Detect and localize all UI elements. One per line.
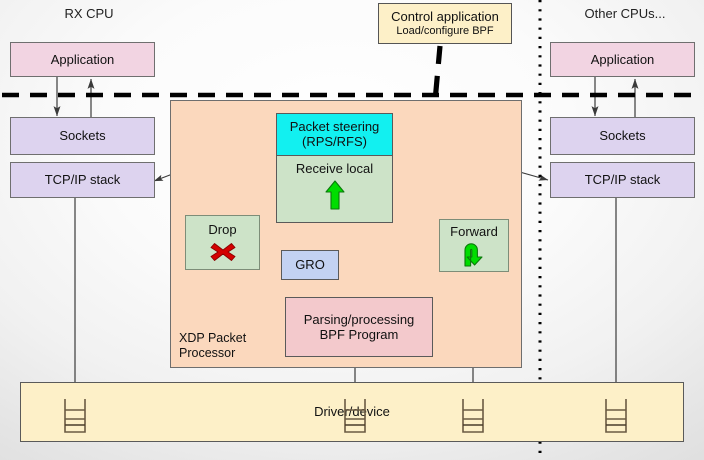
control-application-box[interactable]: Control application Load/configure BPF — [378, 3, 512, 44]
queue-icon — [460, 398, 486, 434]
red-x-icon — [209, 241, 237, 263]
left-application-box[interactable]: Application — [10, 42, 155, 77]
right-sockets-label: Sockets — [599, 128, 645, 143]
xdp-processor-label-line1: XDP Packet — [179, 331, 246, 345]
steering-receive-group: Packet steering (RPS/RFS) Receive local — [276, 113, 393, 223]
left-tcpip-label: TCP/IP stack — [45, 172, 121, 187]
bpf-program-line1: Parsing/processing — [304, 312, 415, 327]
drop-label: Drop — [208, 222, 236, 237]
queue-icon — [603, 398, 629, 434]
right-application-box[interactable]: Application — [550, 42, 695, 77]
forward-box[interactable]: Forward — [439, 219, 509, 272]
gro-box[interactable]: GRO — [281, 250, 339, 280]
left-application-label: Application — [51, 52, 115, 67]
control-application-subtitle: Load/configure BPF — [396, 25, 493, 38]
gro-label: GRO — [295, 257, 325, 272]
right-sockets-box[interactable]: Sockets — [550, 117, 695, 155]
bpf-program-line2: BPF Program — [320, 327, 399, 342]
receive-local-box[interactable]: Receive local — [277, 156, 392, 222]
left-tcpip-box[interactable]: TCP/IP stack — [10, 162, 155, 198]
packet-steering-line2: (RPS/RFS) — [302, 135, 367, 150]
column-label-other-cpus: Other CPUs... — [570, 6, 680, 21]
right-tcpip-label: TCP/IP stack — [585, 172, 661, 187]
right-application-label: Application — [591, 52, 655, 67]
diagram-canvas: RX CPU Other CPUs... Application Sockets… — [0, 0, 704, 460]
packet-steering-box[interactable]: Packet steering (RPS/RFS) — [277, 114, 392, 156]
forward-label: Forward — [450, 224, 498, 239]
right-tcpip-box[interactable]: TCP/IP stack — [550, 162, 695, 198]
left-sockets-label: Sockets — [59, 128, 105, 143]
control-application-title: Control application — [391, 9, 499, 24]
xdp-processor-label-line2: Processor — [179, 346, 235, 360]
packet-steering-line1: Packet steering — [290, 120, 380, 135]
receive-local-label: Receive local — [296, 161, 373, 176]
xdp-processor-label: XDP Packet Processor — [179, 331, 271, 361]
green-uturn-arrow-icon — [460, 241, 488, 267]
green-up-arrow-icon — [324, 180, 346, 210]
left-sockets-box[interactable]: Sockets — [10, 117, 155, 155]
queue-icon — [62, 398, 88, 434]
bpf-program-box[interactable]: Parsing/processing BPF Program — [285, 297, 433, 357]
drop-box[interactable]: Drop — [185, 215, 260, 270]
column-label-rx-cpu: RX CPU — [34, 6, 144, 21]
queue-icon — [342, 398, 368, 434]
